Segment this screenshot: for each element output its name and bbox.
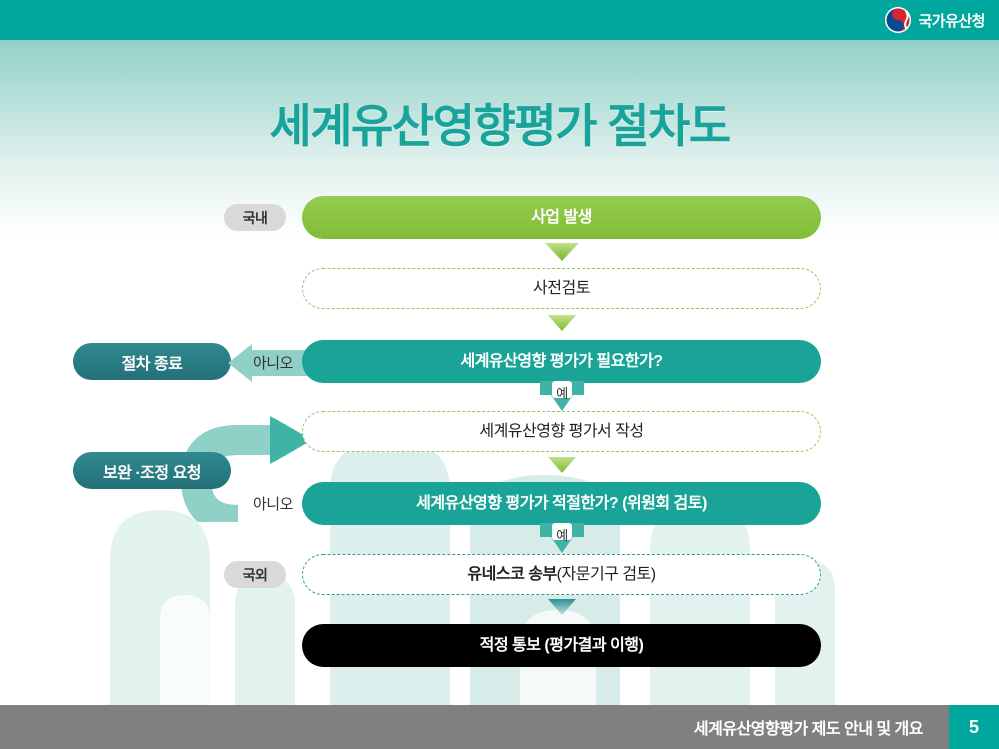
flow-node-unesco-submission[interactable]: 유네스코 송부 (자문기구 검토) bbox=[302, 554, 821, 595]
flow-node-prereview[interactable]: 사전검토 bbox=[302, 268, 821, 309]
header-bar bbox=[0, 0, 999, 40]
footer-bar: 세계유산영향평가 제도 안내 및 개요 5 bbox=[0, 705, 999, 749]
flow-node-start[interactable]: 사업 발생 bbox=[302, 196, 821, 239]
arrow-down-teal-icon bbox=[545, 599, 579, 621]
label-end-process[interactable]: 절차 종료 bbox=[73, 343, 231, 380]
branch-label-no-2: 아니오 bbox=[253, 493, 293, 514]
organization-logo: 국가유산청 bbox=[885, 7, 985, 33]
slide-canvas: 국가유산청 세계유산영향평가 절차도 국내 사업 발생 사전검토 절차 종료 bbox=[0, 0, 999, 749]
flowchart: 국내 사업 발생 사전검토 절차 종료 아니오 세계유산영향 평가가 필요한가? bbox=[0, 0, 999, 749]
flow-node-decision-appropriate[interactable]: 세계유산영향 평가가 적절한가? (위원회 검토) bbox=[302, 482, 821, 525]
arrow-down-green-icon-3 bbox=[545, 457, 579, 479]
label-overseas: 국외 bbox=[224, 561, 286, 588]
branch-label-yes-2: 예 bbox=[547, 525, 577, 544]
label-domestic: 국내 bbox=[224, 204, 286, 231]
arrow-down-green-icon bbox=[545, 243, 579, 265]
taegeuk-circle-icon bbox=[885, 7, 911, 33]
footer-section-title: 세계유산영향평가 제도 안내 및 개요 bbox=[694, 715, 923, 739]
unesco-main-label: 유네스코 송부 bbox=[467, 566, 556, 584]
organization-name: 국가유산청 bbox=[918, 10, 985, 31]
flow-node-decision-need-assessment[interactable]: 세계유산영향 평가가 필요한가? bbox=[302, 340, 821, 383]
label-revise-request[interactable]: 보완 ·조정 요청 bbox=[73, 452, 231, 489]
page-number: 5 bbox=[949, 705, 999, 749]
unesco-sub-label: (자문기구 검토) bbox=[557, 566, 656, 584]
flow-node-write-report[interactable]: 세계유산영향 평가서 작성 bbox=[302, 411, 821, 452]
branch-label-no-1: 아니오 bbox=[253, 352, 293, 373]
flow-node-final-notice[interactable]: 적정 통보 (평가결과 이행) bbox=[302, 624, 821, 667]
arrow-down-green-icon-2 bbox=[545, 315, 579, 337]
branch-label-yes-1: 예 bbox=[547, 383, 577, 402]
